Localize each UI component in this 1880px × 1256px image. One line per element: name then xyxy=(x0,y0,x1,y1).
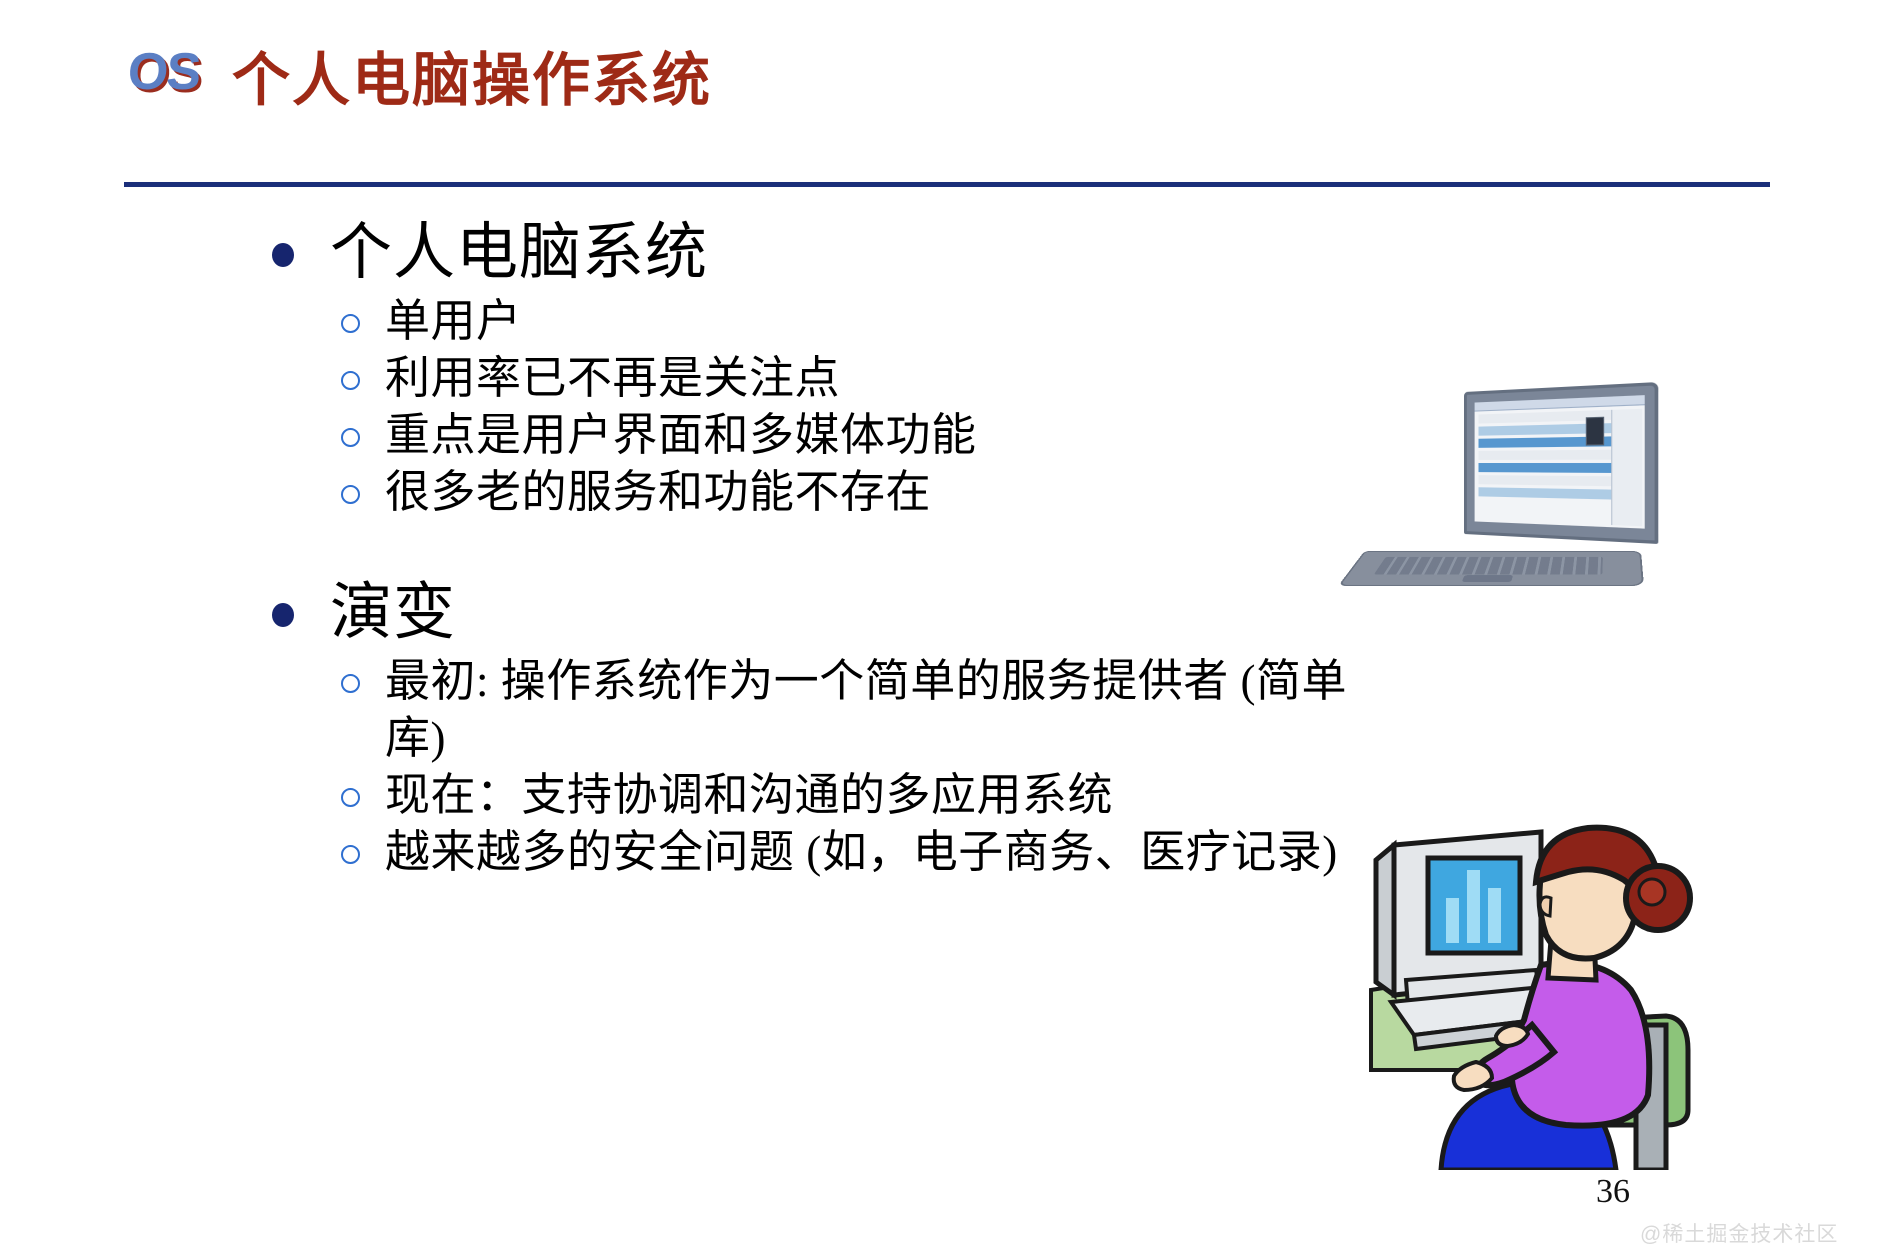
list-item-label: 最初: 操作系统作为一个简单的服务提供者 (简单库) xyxy=(385,653,1380,767)
laptop-keyboard xyxy=(1374,557,1603,575)
woman-at-computer-clipart xyxy=(1336,820,1736,1170)
page-number: 36 xyxy=(1596,1173,1630,1211)
list-item: 重点是用户界面和多媒体功能 xyxy=(0,407,1380,464)
watermark: @稀土掘金技术社区 xyxy=(1640,1218,1838,1248)
list-item: 很多老的服务和功能不存在 xyxy=(0,464,1380,521)
slide: OS 个人电脑操作系统 个人电脑系统 单用户 利用率已不再是关注点 重点是用户界… xyxy=(0,0,1880,1256)
list-item-label: 现在：支持协调和沟通的多应用系统 xyxy=(385,767,1380,824)
circle-bullet-icon xyxy=(341,845,360,864)
laptop-photo xyxy=(1338,392,1650,602)
list-item: 利用率已不再是关注点 xyxy=(0,350,1380,407)
sub-bullet-list: 最初: 操作系统作为一个简单的服务提供者 (简单库) 现在：支持协调和沟通的多应… xyxy=(0,653,1380,881)
section-heading-label: 个人电脑系统 xyxy=(330,219,708,287)
circle-bullet-icon xyxy=(341,485,360,504)
circle-bullet-icon xyxy=(341,788,360,807)
sub-bullet-list: 单用户 利用率已不再是关注点 重点是用户界面和多媒体功能 很多老的服务和功能不存… xyxy=(0,293,1380,521)
laptop-screen xyxy=(1475,395,1645,529)
list-item: 越来越多的安全问题 (如，电子商务、医疗记录) xyxy=(0,824,1380,881)
os-logo: OS xyxy=(126,46,201,98)
circle-bullet-icon xyxy=(341,428,360,447)
page-title: 个人电脑操作系统 xyxy=(232,48,712,114)
bullet-dot-icon xyxy=(272,603,294,627)
list-item: 最初: 操作系统作为一个简单的服务提供者 (简单库) xyxy=(0,653,1380,767)
circle-bullet-icon xyxy=(341,314,360,333)
list-item-label: 重点是用户界面和多媒体功能 xyxy=(385,407,1380,464)
header-divider xyxy=(124,182,1770,187)
circle-bullet-icon xyxy=(341,674,360,693)
list-item-label: 单用户 xyxy=(385,293,1380,350)
list-item: 现在：支持协调和沟通的多应用系统 xyxy=(0,767,1380,824)
screen-sidebar xyxy=(1611,409,1642,526)
list-item-label: 利用率已不再是关注点 xyxy=(385,350,1380,407)
laptop-lid xyxy=(1464,382,1658,544)
slide-body: 个人电脑系统 单用户 利用率已不再是关注点 重点是用户界面和多媒体功能 很多老的… xyxy=(0,215,1380,881)
bullet-section-heading: 个人电脑系统 xyxy=(0,215,1380,291)
laptop-base xyxy=(1338,551,1644,586)
bullet-dot-icon xyxy=(272,243,294,267)
section-heading-label: 演变 xyxy=(330,579,456,647)
laptop-touchpad xyxy=(1462,575,1513,582)
section-spacer xyxy=(0,521,1380,575)
list-item-label: 很多老的服务和功能不存在 xyxy=(385,464,1380,521)
clipart-svg xyxy=(1336,820,1736,1170)
screen-thumbnail xyxy=(1586,417,1604,446)
slide-header: OS 个人电脑操作系统 xyxy=(0,0,1880,190)
circle-bullet-icon xyxy=(341,371,360,390)
bullet-section-heading: 演变 xyxy=(0,575,1380,651)
list-item: 单用户 xyxy=(0,293,1380,350)
list-item-label: 越来越多的安全问题 (如，电子商务、医疗记录) xyxy=(385,824,1380,881)
